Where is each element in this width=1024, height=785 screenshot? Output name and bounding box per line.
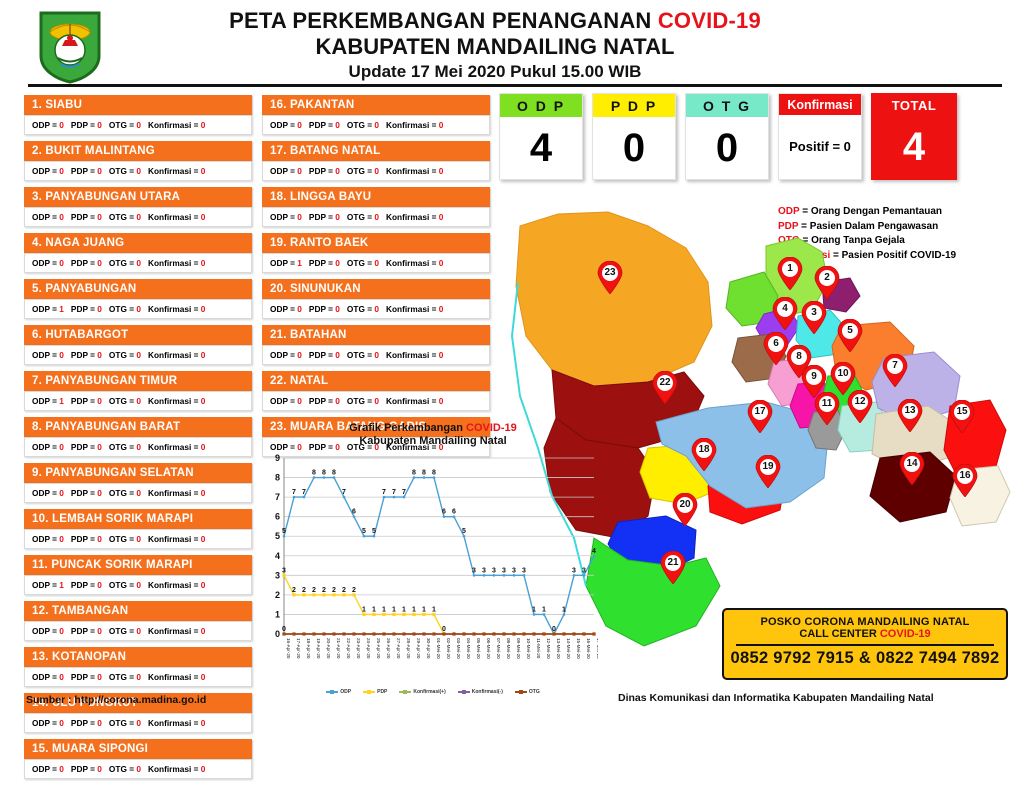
kecamatan-stats: ODP = 1PDP = 0OTG = 0Konfirmasi = 0 <box>24 575 252 595</box>
metric-otg: OTG = 0 <box>347 166 379 176</box>
kecamatan-name: 1. SIABU <box>24 95 252 115</box>
chart-legend-item: Konfirmasi(-) <box>458 689 503 695</box>
map-pin-number: 19 <box>755 461 781 472</box>
metric-konfirmasi: Konfirmasi = 0 <box>148 166 205 176</box>
kecamatan-stats: ODP = 0PDP = 0OTG = 0Konfirmasi = 0 <box>24 483 252 503</box>
metric-otg: OTG = 0 <box>109 166 141 176</box>
stat-card-konf: KonfirmasiPositif = 0 <box>778 93 862 180</box>
kecamatan-item[interactable]: 21. BATAHANODP = 0PDP = 0OTG = 0Konfirma… <box>262 325 490 365</box>
metric-otg: OTG = 0 <box>109 488 141 498</box>
metric-odp: ODP = 0 <box>270 396 302 406</box>
svg-text:3: 3 <box>572 567 576 574</box>
metric-odp: ODP = 0 <box>32 166 64 176</box>
chart-legend-item: PDP <box>363 689 387 695</box>
svg-text:8: 8 <box>275 473 280 483</box>
chart-plot-area: 0123456789577888765577788866533333311013… <box>268 452 598 682</box>
kecamatan-item[interactable]: 18. LINGGA BAYUODP = 0PDP = 0OTG = 0Konf… <box>262 187 490 227</box>
kecamatan-name: 19. RANTO BAEK <box>262 233 490 253</box>
chart-title: Grafik Perkembangan COVID-19 Kabupaten M… <box>268 422 598 448</box>
map-pin-16[interactable]: 16 <box>952 464 978 497</box>
metric-pdp: PDP = 0 <box>309 396 340 406</box>
metric-otg: OTG = 0 <box>109 442 141 452</box>
kecamatan-name: 13. KOTANOPAN <box>24 647 252 667</box>
svg-text:4: 4 <box>275 551 280 561</box>
kecamatan-item[interactable]: 5. PANYABUNGANODP = 1PDP = 0OTG = 0Konfi… <box>24 279 252 319</box>
metric-pdp: PDP = 0 <box>309 350 340 360</box>
metric-konfirmasi: Konfirmasi = 0 <box>386 258 443 268</box>
chart-legend-label: Konfirmasi(+) <box>413 689 445 695</box>
map-pin-number: 10 <box>830 368 856 379</box>
map-pin-5[interactable]: 5 <box>837 319 863 352</box>
kecamatan-item[interactable]: 3. PANYABUNGAN UTARAODP = 0PDP = 0OTG = … <box>24 187 252 227</box>
metric-pdp: PDP = 0 <box>71 488 102 498</box>
map-pin-14[interactable]: 14 <box>899 452 925 485</box>
kecamatan-stats: ODP = 0PDP = 0OTG = 0Konfirmasi = 0 <box>262 161 490 181</box>
svg-text:3: 3 <box>582 567 586 574</box>
kecamatan-item[interactable]: 11. PUNCAK SORIK MARAPIODP = 1PDP = 0OTG… <box>24 555 252 595</box>
metric-odp: ODP = 0 <box>32 350 64 360</box>
map-pin-21[interactable]: 21 <box>660 551 686 584</box>
stat-card-value: 4 <box>872 116 956 178</box>
svg-text:6: 6 <box>442 509 446 516</box>
metric-konfirmasi: Konfirmasi = 0 <box>386 350 443 360</box>
metric-otg: OTG = 0 <box>109 580 141 590</box>
svg-text:2: 2 <box>312 587 316 594</box>
svg-text:20-Apr-20: 20-Apr-20 <box>326 638 331 659</box>
kecamatan-item[interactable]: 4. NAGA JUANGODP = 0PDP = 0OTG = 0Konfir… <box>24 233 252 273</box>
svg-text:5: 5 <box>275 531 280 541</box>
metric-odp: ODP = 0 <box>32 626 64 636</box>
chart-legend: ODPPDPKonfirmasi(+)Konfirmasi(-)OTG <box>268 689 598 695</box>
svg-text:2: 2 <box>342 587 346 594</box>
kecamatan-item[interactable]: 9. PANYABUNGAN SELATANODP = 0PDP = 0OTG … <box>24 463 252 503</box>
kecamatan-name: 7. PANYABUNGAN TIMUR <box>24 371 252 391</box>
page-title: PETA PERKEMBANGAN PENANGANAN COVID-19 KA… <box>150 8 840 83</box>
svg-text:8: 8 <box>332 470 336 477</box>
map-pin-number: 2 <box>814 272 840 283</box>
svg-text:7: 7 <box>402 489 406 496</box>
map-pin-17[interactable]: 17 <box>747 400 773 433</box>
metric-odp: ODP = 1 <box>32 396 64 406</box>
svg-text:03-Mei-20: 03-Mei-20 <box>456 638 461 659</box>
svg-text:1: 1 <box>362 606 366 613</box>
infographic-page: PETA PERKEMBANGAN PENANGANAN COVID-19 KA… <box>0 0 1024 720</box>
svg-text:1: 1 <box>275 609 280 619</box>
chart-legend-item: OTG <box>515 689 540 695</box>
stat-card-label: O D P <box>500 94 582 117</box>
metric-konfirmasi: Konfirmasi = 0 <box>386 212 443 222</box>
metric-konfirmasi: Konfirmasi = 0 <box>148 442 205 452</box>
call-center-box: POSKO CORONA MANDAILING NATAL CALL CENTE… <box>722 608 1008 680</box>
svg-text:04-Mei-20: 04-Mei-20 <box>466 638 471 659</box>
kecamatan-name: 10. LEMBAH SORIK MARAPI <box>24 509 252 529</box>
map-pin-number: 11 <box>814 398 840 409</box>
kecamatan-stats: ODP = 0PDP = 0OTG = 0Konfirmasi = 0 <box>262 391 490 411</box>
svg-text:0: 0 <box>275 629 280 639</box>
metric-pdp: PDP = 0 <box>71 764 102 774</box>
stat-card-otg: O T G0 <box>685 93 769 180</box>
kecamatan-item[interactable]: 10. LEMBAH SORIK MARAPIODP = 0PDP = 0OTG… <box>24 509 252 549</box>
svg-text:2: 2 <box>322 587 326 594</box>
svg-text:6: 6 <box>352 509 356 516</box>
svg-text:8: 8 <box>412 470 416 477</box>
kecamatan-name: 12. TAMBANGAN <box>24 601 252 621</box>
svg-text:2: 2 <box>292 587 296 594</box>
source-text: Sumber : http://corona.madina.go.id <box>26 694 206 706</box>
metric-konfirmasi: Konfirmasi = 0 <box>148 304 205 314</box>
metric-otg: OTG = 0 <box>347 304 379 314</box>
map-pin-number: 14 <box>899 458 925 469</box>
kecamatan-stats: ODP = 0PDP = 0OTG = 0Konfirmasi = 0 <box>24 621 252 641</box>
kecamatan-stats: ODP = 0PDP = 0OTG = 0Konfirmasi = 0 <box>24 253 252 273</box>
title-covid-label: COVID-19 <box>658 8 761 33</box>
stat-card-odp: O D P4 <box>499 93 583 180</box>
mandailing-natal-crest-icon <box>38 10 102 84</box>
metric-otg: OTG = 0 <box>109 304 141 314</box>
metric-konfirmasi: Konfirmasi = 0 <box>148 626 205 636</box>
svg-text:3: 3 <box>472 567 476 574</box>
metric-odp: ODP = 0 <box>32 534 64 544</box>
kecamatan-item[interactable]: 19. RANTO BAEKODP = 1PDP = 0OTG = 0Konfi… <box>262 233 490 273</box>
svg-text:17-Mei-20: 17-Mei-20 <box>596 638 598 659</box>
svg-text:12-Mei-20: 12-Mei-20 <box>546 638 551 659</box>
metric-otg: OTG = 0 <box>109 626 141 636</box>
map-pin-number: 12 <box>847 396 873 407</box>
svg-text:4: 4 <box>592 548 596 555</box>
kecamatan-stats: ODP = 0PDP = 0OTG = 0Konfirmasi = 0 <box>24 115 252 135</box>
svg-text:19-Apr-20: 19-Apr-20 <box>316 638 321 659</box>
kecamatan-item[interactable]: 15. MUARA SIPONGIODP = 0PDP = 0OTG = 0Ko… <box>24 739 252 779</box>
metric-odp: ODP = 1 <box>32 304 64 314</box>
kecamatan-item[interactable]: 7. PANYABUNGAN TIMURODP = 1PDP = 0OTG = … <box>24 371 252 411</box>
kecamatan-stats: ODP = 0PDP = 0OTG = 0Konfirmasi = 0 <box>24 667 252 687</box>
kecamatan-stats: ODP = 0PDP = 0OTG = 0Konfirmasi = 0 <box>24 529 252 549</box>
metric-pdp: PDP = 0 <box>309 120 340 130</box>
metric-odp: ODP = 0 <box>32 212 64 222</box>
svg-text:6: 6 <box>275 512 280 522</box>
metric-otg: OTG = 0 <box>347 396 379 406</box>
svg-text:11-Mei-20: 11-Mei-20 <box>536 638 541 659</box>
kecamatan-item[interactable]: 16. PAKANTANODP = 0PDP = 0OTG = 0Konfirm… <box>262 95 490 135</box>
map-pin-7[interactable]: 7 <box>882 354 908 387</box>
chart-legend-swatch <box>458 691 470 693</box>
metric-pdp: PDP = 0 <box>309 304 340 314</box>
metric-pdp: PDP = 0 <box>71 166 102 176</box>
map-pin-18[interactable]: 18 <box>691 438 717 471</box>
svg-text:5: 5 <box>462 528 466 535</box>
metric-odp: ODP = 0 <box>32 442 64 452</box>
metric-odp: ODP = 0 <box>270 166 302 176</box>
title-update-line: Update 17 Mei 2020 Pukul 15.00 WIB <box>150 61 840 83</box>
call-center-divider <box>736 644 994 646</box>
kecamatan-name: 9. PANYABUNGAN SELATAN <box>24 463 252 483</box>
svg-text:1: 1 <box>562 606 566 613</box>
title-line2: KABUPATEN MANDAILING NATAL <box>150 34 840 60</box>
chart-legend-label: Konfirmasi(-) <box>472 689 503 695</box>
svg-text:8: 8 <box>312 470 316 477</box>
svg-text:28-Apr-20: 28-Apr-20 <box>406 638 411 659</box>
metric-pdp: PDP = 0 <box>309 166 340 176</box>
map-pin-number: 21 <box>660 557 686 568</box>
svg-text:3: 3 <box>482 567 486 574</box>
svg-text:0: 0 <box>442 626 446 633</box>
stat-card-value: 0 <box>686 117 768 179</box>
map-pin-23[interactable]: 23 <box>597 261 623 294</box>
stat-card-pdp: P D P0 <box>592 93 676 180</box>
kecamatan-name: 8. PANYABUNGAN BARAT <box>24 417 252 437</box>
chart-legend-item: Konfirmasi(+) <box>399 689 445 695</box>
map-pin-4[interactable]: 4 <box>772 297 798 330</box>
metric-odp: ODP = 0 <box>32 120 64 130</box>
kecamatan-stats: ODP = 0PDP = 0OTG = 0Konfirmasi = 0 <box>24 437 252 457</box>
metric-odp: ODP = 0 <box>270 350 302 360</box>
map-pin-1[interactable]: 1 <box>777 257 803 290</box>
chart-legend-swatch <box>515 691 527 693</box>
header-divider <box>28 84 1002 87</box>
kecamatan-name: 20. SINUNUKAN <box>262 279 490 299</box>
metric-otg: OTG = 0 <box>347 350 379 360</box>
kecamatan-stats: ODP = 0PDP = 0OTG = 0Konfirmasi = 0 <box>262 207 490 227</box>
kecamatan-stats: ODP = 0PDP = 0OTG = 0Konfirmasi = 0 <box>262 299 490 319</box>
svg-text:30-Apr-20: 30-Apr-20 <box>426 638 431 659</box>
publisher-text: Dinas Komunikasi dan Informatika Kabupat… <box>618 692 934 704</box>
svg-text:17-Apr-20: 17-Apr-20 <box>296 638 301 659</box>
kecamatan-name: 18. LINGGA BAYU <box>262 187 490 207</box>
svg-text:25-Apr-20: 25-Apr-20 <box>376 638 381 659</box>
kecamatan-name: 3. PANYABUNGAN UTARA <box>24 187 252 207</box>
metric-pdp: PDP = 0 <box>71 258 102 268</box>
call-center-title: POSKO CORONA MANDAILING NATAL <box>724 616 1006 628</box>
chart-legend-swatch <box>326 691 338 693</box>
svg-text:2: 2 <box>302 587 306 594</box>
metric-konfirmasi: Konfirmasi = 0 <box>386 166 443 176</box>
map-pin-number: 4 <box>772 303 798 314</box>
map-pin-number: 9 <box>801 371 827 382</box>
chart-subtitle: Kabupaten Mandailing Natal <box>268 435 598 448</box>
metric-konfirmasi: Konfirmasi = 0 <box>148 212 205 222</box>
metric-pdp: PDP = 0 <box>71 672 102 682</box>
stat-card-label: Konfirmasi <box>779 94 861 115</box>
kecamatan-item[interactable]: 8. PANYABUNGAN BARATODP = 0PDP = 0OTG = … <box>24 417 252 457</box>
metric-pdp: PDP = 0 <box>71 212 102 222</box>
metric-konfirmasi: Konfirmasi = 0 <box>148 764 205 774</box>
metric-otg: OTG = 0 <box>109 350 141 360</box>
kecamatan-stats: ODP = 0PDP = 0OTG = 0Konfirmasi = 0 <box>262 115 490 135</box>
map-pin-number: 7 <box>882 360 908 371</box>
title-line1-text: PETA PERKEMBANGAN PENANGANAN <box>229 8 658 33</box>
svg-text:01-Mei-20: 01-Mei-20 <box>436 638 441 659</box>
svg-text:1: 1 <box>402 606 406 613</box>
metric-odp: ODP = 0 <box>32 258 64 268</box>
map-pin-number: 18 <box>691 444 717 455</box>
svg-text:05-Mei-20: 05-Mei-20 <box>476 638 481 659</box>
svg-text:13-Mei-20: 13-Mei-20 <box>556 638 561 659</box>
kecamatan-stats: ODP = 0PDP = 0OTG = 0Konfirmasi = 0 <box>262 345 490 365</box>
metric-odp: ODP = 0 <box>32 672 64 682</box>
stat-card-value: Positif = 0 <box>779 115 861 177</box>
svg-text:1: 1 <box>412 606 416 613</box>
metric-otg: OTG = 0 <box>109 120 141 130</box>
metric-konfirmasi: Konfirmasi = 0 <box>148 580 205 590</box>
kecamatan-stats: ODP = 0PDP = 0OTG = 0Konfirmasi = 0 <box>24 207 252 227</box>
kecamatan-name: 15. MUARA SIPONGI <box>24 739 252 759</box>
metric-odp: ODP = 0 <box>270 304 302 314</box>
svg-text:7: 7 <box>392 489 396 496</box>
svg-text:8: 8 <box>432 470 436 477</box>
covid-trend-chart: Grafik Perkembangan COVID-19 Kabupaten M… <box>268 422 598 710</box>
kecamatan-name: 2. BUKIT MALINTANG <box>24 141 252 161</box>
kecamatan-name: 4. NAGA JUANG <box>24 233 252 253</box>
kecamatan-name: 16. PAKANTAN <box>262 95 490 115</box>
svg-text:21-Apr-20: 21-Apr-20 <box>336 638 341 659</box>
svg-text:5: 5 <box>372 528 376 535</box>
svg-text:06-Mei-20: 06-Mei-20 <box>486 638 491 659</box>
metric-konfirmasi: Konfirmasi = 0 <box>386 304 443 314</box>
stat-card-label: P D P <box>593 94 675 117</box>
svg-text:22-Apr-20: 22-Apr-20 <box>346 638 351 659</box>
svg-text:7: 7 <box>302 489 306 496</box>
metric-pdp: PDP = 0 <box>309 212 340 222</box>
map-pin-22[interactable]: 22 <box>652 371 678 404</box>
svg-text:23-Apr-20: 23-Apr-20 <box>356 638 361 659</box>
kecamatan-name: 11. PUNCAK SORIK MARAPI <box>24 555 252 575</box>
map-pin-19[interactable]: 19 <box>755 455 781 488</box>
metric-pdp: PDP = 0 <box>71 626 102 636</box>
map-pin-3[interactable]: 3 <box>801 301 827 334</box>
metric-konfirmasi: Konfirmasi = 0 <box>386 396 443 406</box>
kecamatan-item[interactable]: 22. NATALODP = 0PDP = 0OTG = 0Konfirmasi… <box>262 371 490 411</box>
kecamatan-item[interactable]: 6. HUTABARGOTODP = 0PDP = 0OTG = 0Konfir… <box>24 325 252 365</box>
metric-otg: OTG = 0 <box>109 672 141 682</box>
svg-text:3: 3 <box>522 567 526 574</box>
svg-text:8: 8 <box>322 470 326 477</box>
metric-pdp: PDP = 0 <box>71 396 102 406</box>
kecamatan-item[interactable]: 1. SIABUODP = 0PDP = 0OTG = 0Konfirmasi … <box>24 95 252 135</box>
kecamatan-stats: ODP = 1PDP = 0OTG = 0Konfirmasi = 0 <box>24 391 252 411</box>
metric-odp: ODP = 0 <box>270 212 302 222</box>
metric-otg: OTG = 0 <box>109 534 141 544</box>
metric-pdp: PDP = 0 <box>71 442 102 452</box>
chart-legend-swatch <box>399 691 411 693</box>
map-pin-number: 15 <box>949 406 975 417</box>
svg-text:3: 3 <box>492 567 496 574</box>
metric-konfirmasi: Konfirmasi = 0 <box>148 672 205 682</box>
metric-konfirmasi: Konfirmasi = 0 <box>148 534 205 544</box>
kecamatan-name: 6. HUTABARGOT <box>24 325 252 345</box>
metric-otg: OTG = 0 <box>109 396 141 406</box>
svg-text:08-Mei-20: 08-Mei-20 <box>506 638 511 659</box>
metric-konfirmasi: Konfirmasi = 0 <box>148 350 205 360</box>
map-pin-15[interactable]: 15 <box>949 400 975 433</box>
kecamatan-item[interactable]: 17. BATANG NATALODP = 0PDP = 0OTG = 0Kon… <box>262 141 490 181</box>
svg-text:2: 2 <box>352 587 356 594</box>
metric-pdp: PDP = 0 <box>309 258 340 268</box>
metric-pdp: PDP = 0 <box>71 534 102 544</box>
metric-otg: OTG = 0 <box>109 764 141 774</box>
kecamatan-name: 21. BATAHAN <box>262 325 490 345</box>
metric-otg: OTG = 0 <box>347 212 379 222</box>
kecamatan-item[interactable]: 13. KOTANOPANODP = 0PDP = 0OTG = 0Konfir… <box>24 647 252 687</box>
svg-text:09-Mei-20: 09-Mei-20 <box>516 638 521 659</box>
kecamatan-stats: ODP = 0PDP = 0OTG = 0Konfirmasi = 0 <box>24 161 252 181</box>
metric-odp: ODP = 0 <box>32 488 64 498</box>
kecamatan-list-column-1: 1. SIABUODP = 0PDP = 0OTG = 0Konfirmasi … <box>24 95 252 785</box>
chart-legend-label: PDP <box>377 689 387 695</box>
kecamatan-name: 22. NATAL <box>262 371 490 391</box>
map-pin-2[interactable]: 2 <box>814 266 840 299</box>
svg-text:02-Mei-20: 02-Mei-20 <box>446 638 451 659</box>
svg-text:2: 2 <box>275 590 280 600</box>
stat-card-value: 0 <box>593 117 675 179</box>
kecamatan-item[interactable]: 20. SINUNUKANODP = 0PDP = 0OTG = 0Konfir… <box>262 279 490 319</box>
map-pin-12[interactable]: 12 <box>847 390 873 423</box>
stat-card-value: 4 <box>500 117 582 179</box>
call-center-phone-numbers[interactable]: 0852 9792 7915 & 0822 7494 7892 <box>724 649 1006 668</box>
metric-odp: ODP = 0 <box>32 764 64 774</box>
map-pin-number: 8 <box>786 351 812 362</box>
svg-text:7: 7 <box>382 489 386 496</box>
svg-text:1: 1 <box>432 606 436 613</box>
svg-text:3: 3 <box>502 567 506 574</box>
kecamatan-item[interactable]: 12. TAMBANGANODP = 0PDP = 0OTG = 0Konfir… <box>24 601 252 641</box>
metric-otg: OTG = 0 <box>109 212 141 222</box>
svg-text:7: 7 <box>275 492 280 502</box>
call-center-subtitle: CALL CENTER <box>799 628 879 640</box>
kecamatan-stats: ODP = 0PDP = 0OTG = 0Konfirmasi = 0 <box>24 713 252 733</box>
svg-text:1: 1 <box>372 606 376 613</box>
map-pin-11[interactable]: 11 <box>814 392 840 425</box>
page-header: PETA PERKEMBANGAN PENANGANAN COVID-19 KA… <box>0 0 1024 88</box>
svg-text:10-Mei-20: 10-Mei-20 <box>526 638 531 659</box>
chart-title-prefix: Grafik Perkembangan <box>349 422 466 434</box>
chart-legend-label: OTG <box>529 689 540 695</box>
kecamatan-item[interactable]: 2. BUKIT MALINTANGODP = 0PDP = 0OTG = 0K… <box>24 141 252 181</box>
metric-konfirmasi: Konfirmasi = 0 <box>148 396 205 406</box>
call-center-covid-label: COVID-19 <box>880 628 931 640</box>
chart-title-covid: COVID-19 <box>466 422 517 434</box>
stat-card-total: TOTAL4 <box>871 93 957 180</box>
map-pin-20[interactable]: 20 <box>672 493 698 526</box>
kecamatan-name: 17. BATANG NATAL <box>262 141 490 161</box>
svg-text:7: 7 <box>342 489 346 496</box>
map-pin-number: 5 <box>837 325 863 336</box>
svg-text:2: 2 <box>332 587 336 594</box>
map-pin-number: 13 <box>897 405 923 416</box>
svg-text:27-Apr-20: 27-Apr-20 <box>396 638 401 659</box>
kecamatan-name: 5. PANYABUNGAN <box>24 279 252 299</box>
svg-text:9: 9 <box>275 453 280 463</box>
svg-text:24-Apr-20: 24-Apr-20 <box>366 638 371 659</box>
metric-otg: OTG = 0 <box>109 258 141 268</box>
kecamatan-stats: ODP = 1PDP = 0OTG = 0Konfirmasi = 0 <box>262 253 490 273</box>
svg-text:1: 1 <box>532 606 536 613</box>
svg-text:26-Apr-20: 26-Apr-20 <box>386 638 391 659</box>
metric-konfirmasi: Konfirmasi = 0 <box>148 120 205 130</box>
map-pin-13[interactable]: 13 <box>897 399 923 432</box>
svg-text:3: 3 <box>275 570 280 580</box>
svg-text:07-Mei-20: 07-Mei-20 <box>496 638 501 659</box>
kecamatan-stats: ODP = 0PDP = 0OTG = 0Konfirmasi = 0 <box>24 345 252 365</box>
metric-odp: ODP = 1 <box>32 580 64 590</box>
chart-legend-swatch <box>363 691 375 693</box>
map-pin-number: 20 <box>672 499 698 510</box>
svg-text:15-Mei-20: 15-Mei-20 <box>576 638 581 659</box>
metric-konfirmasi: Konfirmasi = 0 <box>148 258 205 268</box>
map-pin-number: 16 <box>952 470 978 481</box>
svg-text:1: 1 <box>542 606 546 613</box>
metric-odp: ODP = 1 <box>270 258 302 268</box>
metric-otg: OTG = 0 <box>347 120 379 130</box>
